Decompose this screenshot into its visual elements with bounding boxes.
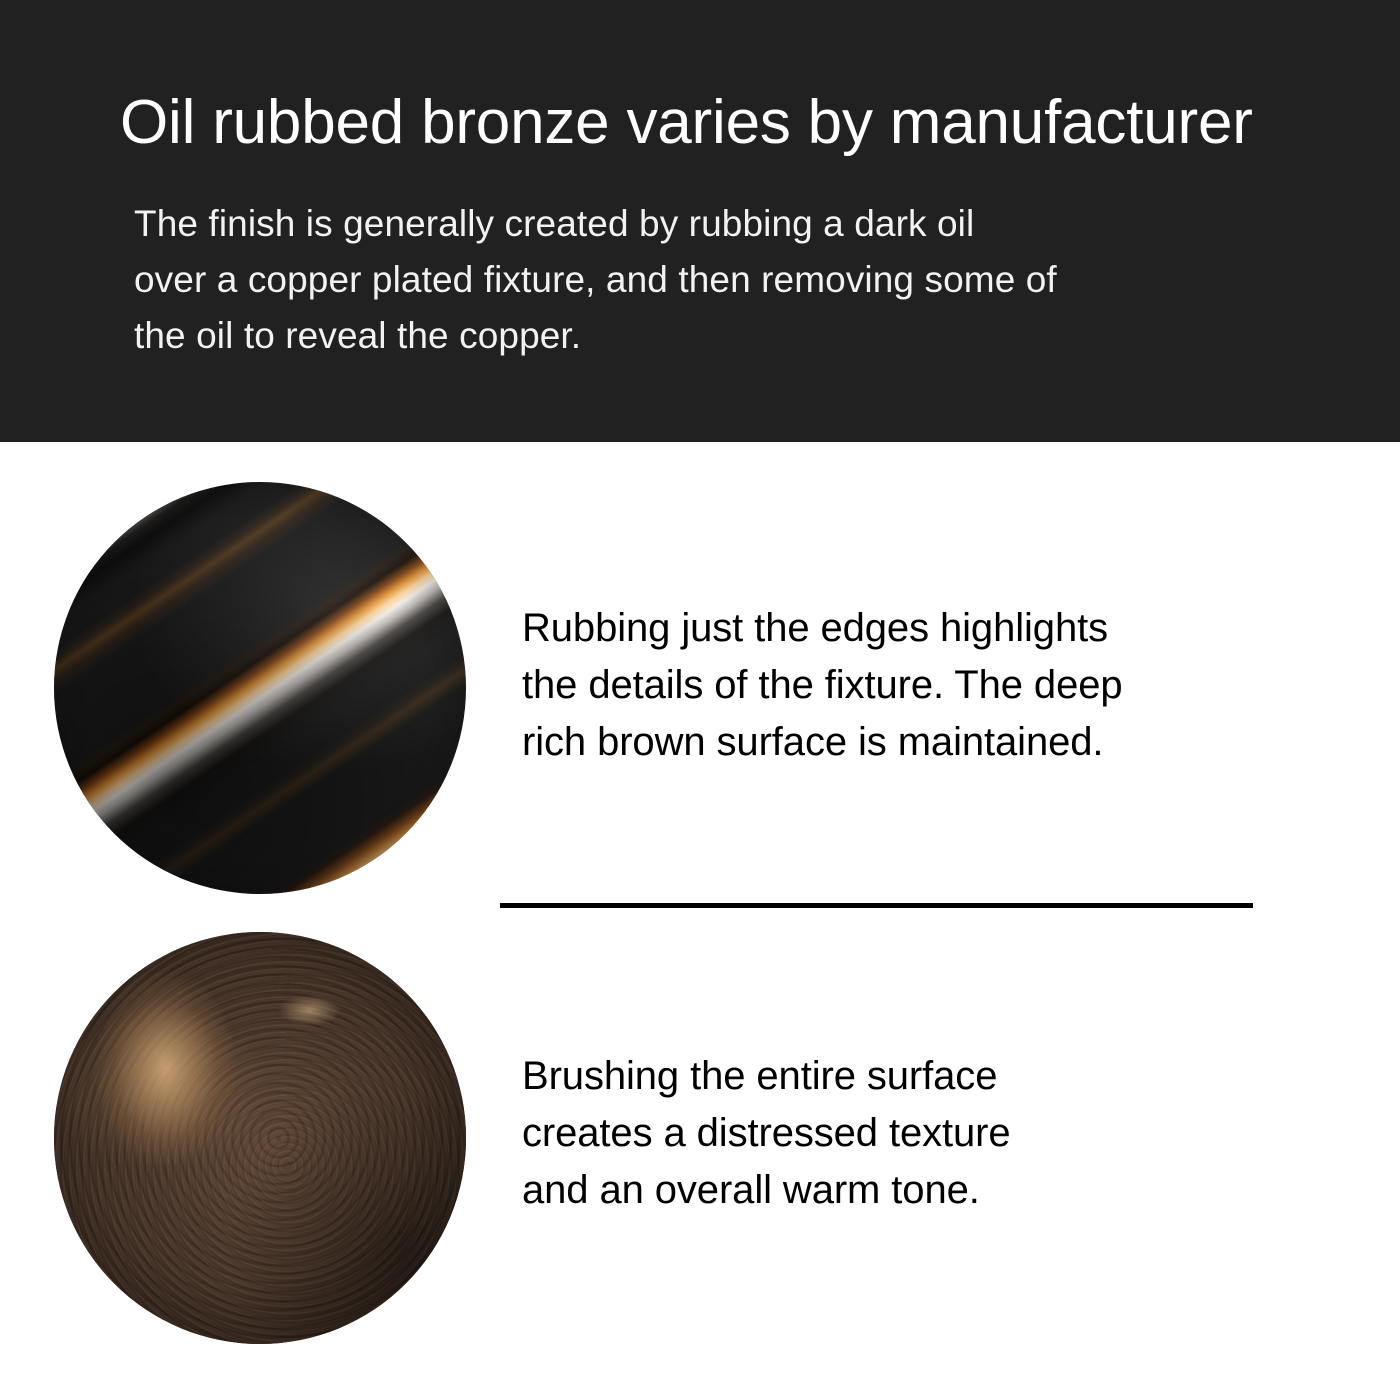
caption-brushed-surface: Brushing the entire surface creates a di… [522, 1048, 1262, 1219]
caption-brushed-line-1: Brushing the entire surface [522, 1048, 1262, 1105]
header-description-line-2: over a copper plated fixture, and then r… [134, 252, 1284, 308]
header-description-line-1: The finish is generally created by rubbi… [134, 196, 1284, 252]
header-band: Oil rubbed bronze varies by manufacturer… [0, 0, 1400, 442]
sphere-sheen-overlay [54, 482, 466, 894]
infographic-root: Oil rubbed bronze varies by manufacturer… [0, 0, 1400, 1400]
oil-rubbed-bronze-edges-swatch [54, 482, 466, 894]
header-description: The finish is generally created by rubbi… [134, 196, 1284, 364]
caption-brushed-line-3: and an overall warm tone. [522, 1162, 1262, 1219]
caption-rubbed-line-3: rich brown surface is maintained. [522, 714, 1262, 771]
caption-brushed-line-2: creates a distressed texture [522, 1105, 1262, 1162]
section-divider [500, 903, 1253, 908]
header-description-line-3: the oil to reveal the copper. [134, 308, 1284, 364]
caption-rubbed-line-1: Rubbing just the edges highlights [522, 600, 1262, 657]
sphere-vignette-overlay [54, 932, 466, 1344]
caption-rubbed-line-2: the details of the fixture. The deep [522, 657, 1262, 714]
page-title: Oil rubbed bronze varies by manufacturer [120, 88, 1320, 157]
caption-rubbed-edges: Rubbing just the edges highlights the de… [522, 600, 1262, 771]
brushed-bronze-distressed-swatch [54, 932, 466, 1344]
